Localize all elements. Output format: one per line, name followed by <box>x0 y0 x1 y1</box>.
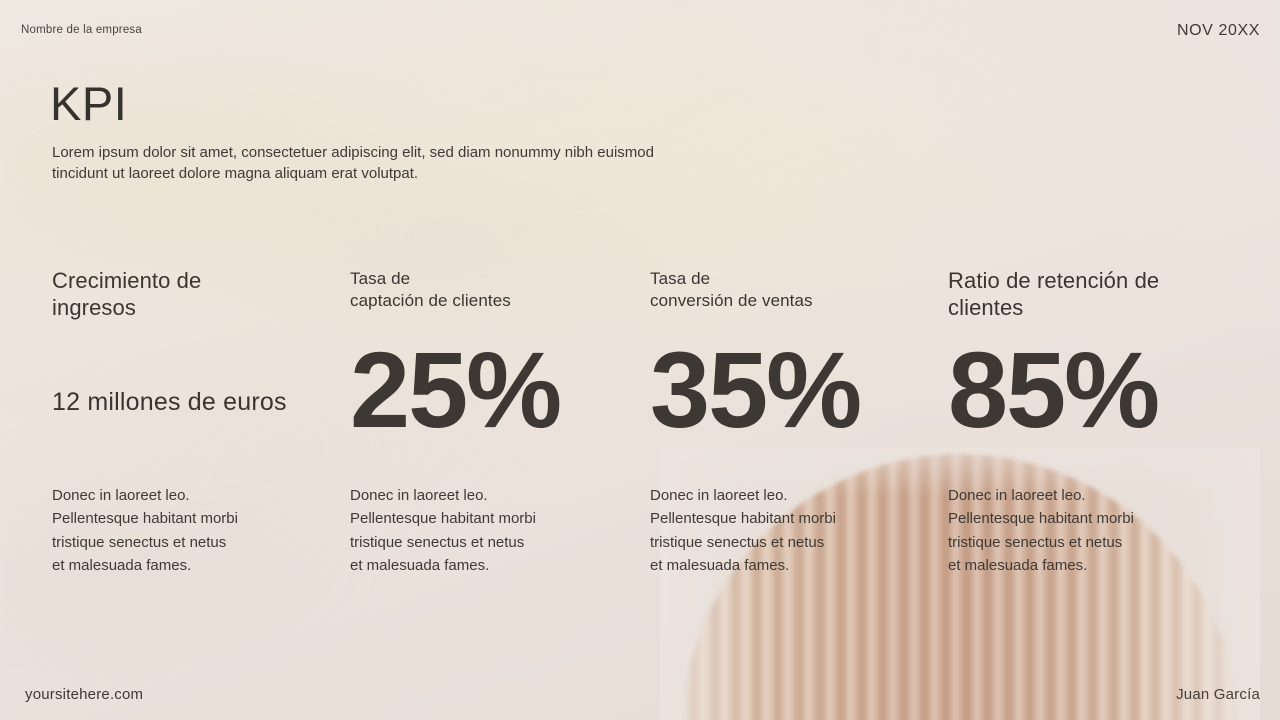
kpi-heading: Tasa de captación de clientes <box>350 268 610 313</box>
kpi-heading: Tasa de conversión de ventas <box>650 268 910 313</box>
kpi-description: Donec in laoreet leo. Pellentesque habit… <box>52 484 302 577</box>
kpi-description: Donec in laoreet leo. Pellentesque habit… <box>948 484 1198 577</box>
page-subtitle: Lorem ipsum dolor sit amet, consectetuer… <box>52 142 692 185</box>
kpi-slide: Nombre de la empresa NOV 20XX KPI Lorem … <box>0 0 1280 720</box>
kpi-heading: Ratio de retención de clientes <box>948 268 1208 322</box>
kpi-value: 85% <box>948 336 1158 444</box>
kpi-columns: Crecimiento de ingresos 12 millones de e… <box>0 268 1280 588</box>
footer-author: Juan García <box>1176 686 1260 703</box>
kpi-value: 35% <box>650 336 860 444</box>
footer-website[interactable]: yoursitehere.com <box>25 686 143 703</box>
kpi-value: 12 millones de euros <box>52 388 287 417</box>
kpi-value: 25% <box>350 336 560 444</box>
page-title: KPI <box>50 80 127 127</box>
slide-date: NOV 20XX <box>1177 22 1260 40</box>
kpi-heading: Crecimiento de ingresos <box>52 268 312 322</box>
kpi-description: Donec in laoreet leo. Pellentesque habit… <box>650 484 900 577</box>
kpi-description: Donec in laoreet leo. Pellentesque habit… <box>350 484 600 577</box>
company-name: Nombre de la empresa <box>21 24 142 36</box>
